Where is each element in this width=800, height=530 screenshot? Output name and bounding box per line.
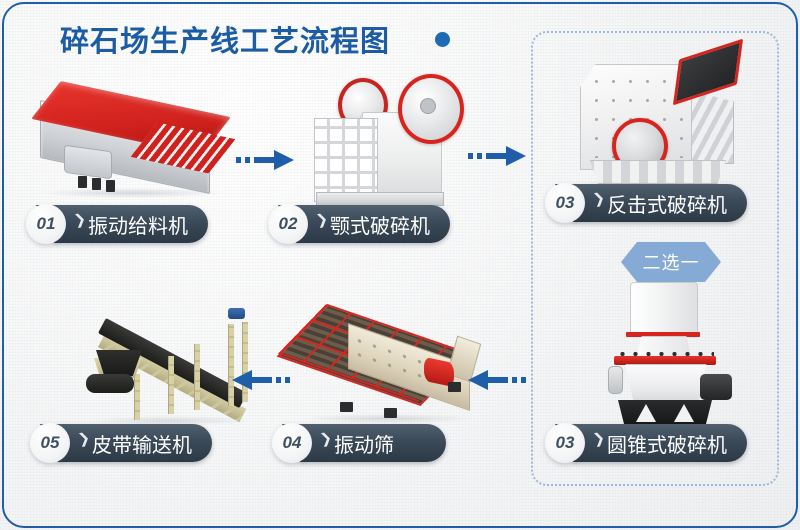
chevron-right-icon: ❯ (76, 429, 91, 448)
step-number-01: 01 (26, 204, 66, 244)
jaw-base (316, 192, 444, 206)
page-title: 碎石场生产线工艺流程图 (60, 18, 390, 60)
cone-bolt-ring (616, 350, 714, 358)
step-label-03-cone[interactable]: 03 ❯ 圆锥式破碎机 (545, 424, 747, 462)
feeder-foot (78, 176, 87, 188)
step-number-03: 03 (545, 183, 585, 223)
arrow-screen-to-belt (230, 366, 290, 394)
belt-support-leg (168, 356, 174, 414)
step-name-tag-03-cone[interactable]: ❯ 圆锥式破碎机 (573, 424, 747, 462)
impact-support-legs (584, 160, 726, 184)
step-number-03: 03 (545, 423, 585, 463)
cone-crusher-image (596, 278, 748, 436)
belt-tail-drum (86, 374, 134, 393)
jaw-side-frame (314, 118, 378, 202)
impact-crusher-image (566, 48, 744, 200)
step-label-01[interactable]: 01 ❯ 振动给料机 (26, 205, 208, 243)
step-number-02: 02 (268, 204, 308, 244)
title-bullet-dot (435, 32, 450, 47)
vibrating-screen-image (292, 310, 484, 428)
step-label-text: 反击式破碎机 (607, 189, 727, 218)
step-name-tag-01[interactable]: ❯ 振动给料机 (54, 205, 208, 243)
screen-foot (384, 408, 397, 418)
step-name-tag-03-impact[interactable]: ❯ 反击式破碎机 (573, 184, 747, 222)
chevron-right-icon: ❯ (318, 429, 333, 448)
step-label-04[interactable]: 04 ❯ 振动筛 (272, 424, 446, 462)
belt-support-leg (134, 374, 140, 420)
arrow-feeder-to-jaw (236, 146, 296, 174)
jaw-hub (420, 98, 436, 114)
step-label-text: 颚式破碎机 (330, 210, 430, 239)
step-label-text: 振动给料机 (88, 210, 188, 239)
chevron-right-icon: ❯ (591, 189, 606, 208)
cone-hydraulic-cylinder (608, 366, 623, 394)
feeder-motor (64, 145, 112, 180)
screen-foot (340, 402, 353, 412)
vibrating-feeder-image (22, 88, 242, 200)
step-number-05: 05 (30, 423, 70, 463)
belt-support-leg (194, 344, 200, 410)
step-label-03-impact[interactable]: 03 ❯ 反击式破碎机 (545, 184, 747, 222)
chevron-right-icon: ❯ (72, 210, 87, 229)
step-number-04: 04 (272, 423, 312, 463)
step-name-tag-02[interactable]: ❯ 颚式破碎机 (296, 205, 450, 243)
screen-foot (448, 382, 461, 392)
chevron-right-icon: ❯ (591, 429, 606, 448)
belt-head-pulley-cover (228, 308, 245, 319)
feeder-foot (106, 180, 115, 192)
step-label-05[interactable]: 05 ❯ 皮带输送机 (30, 424, 212, 462)
step-name-tag-04[interactable]: ❯ 振动筛 (300, 424, 446, 462)
jaw-crusher-image (302, 70, 484, 210)
feeder-foot (92, 178, 101, 190)
flowchart-canvas: 碎石场生产线工艺流程图 (0, 0, 800, 530)
step-name-tag-05[interactable]: ❯ 皮带输送机 (58, 424, 212, 462)
step-label-text: 圆锥式破碎机 (607, 429, 727, 458)
chevron-right-icon: ❯ (314, 210, 329, 229)
arrow-jaw-to-impact (468, 142, 528, 170)
cone-drive-motor (700, 374, 732, 400)
step-label-text: 振动筛 (334, 429, 394, 458)
cone-feed-hopper (630, 282, 698, 336)
arrow-crusher-to-screen (466, 366, 526, 394)
choose-one-of-two-badge: 二选一 (621, 242, 721, 282)
step-label-text: 皮带输送机 (92, 429, 192, 458)
step-label-02[interactable]: 02 ❯ 颚式破碎机 (268, 205, 450, 243)
